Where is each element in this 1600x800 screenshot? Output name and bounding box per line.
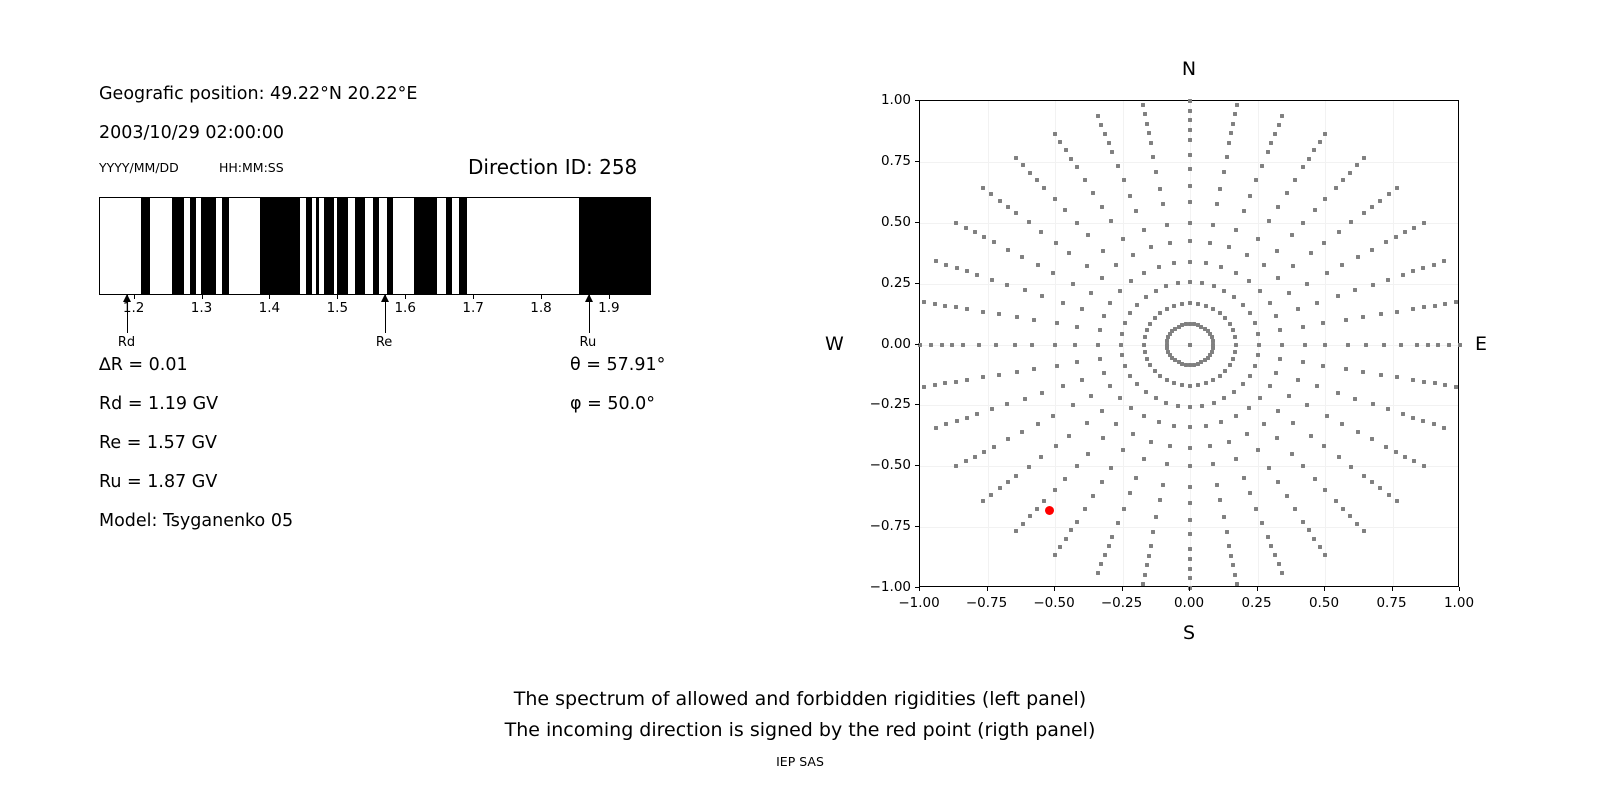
direction-dot (1153, 369, 1157, 373)
x-axis-tick-mark (1459, 587, 1460, 591)
direction-dot (1075, 360, 1079, 364)
direction-dot (1154, 289, 1158, 293)
direction-dot (1395, 375, 1399, 379)
direction-dot (1296, 307, 1300, 311)
direction-dot (1157, 420, 1161, 424)
direction-dot (1312, 537, 1316, 541)
direction-dot (1128, 491, 1132, 495)
direction-dot (1371, 283, 1375, 287)
direction-dot (1040, 294, 1044, 298)
direction-dot (994, 343, 998, 347)
x-axis-tick-label: −0.50 (1033, 595, 1074, 611)
direction-dot (1254, 507, 1258, 511)
direction-dot (1262, 422, 1266, 426)
direction-dot (1296, 378, 1300, 382)
direction-dot (1323, 197, 1327, 201)
direction-dot (1275, 436, 1279, 440)
direction-dot (1411, 378, 1415, 382)
direction-dot (1096, 343, 1100, 347)
direction-dot (1083, 178, 1087, 182)
direction-dot (1121, 237, 1125, 241)
direction-dot (1235, 103, 1239, 107)
direction-dot (1322, 241, 1326, 245)
direction-dot (1158, 311, 1162, 315)
direction-dot (950, 343, 954, 347)
direction-dot (1172, 261, 1176, 265)
direction-dot (992, 445, 996, 449)
direction-dot (1128, 194, 1132, 198)
direction-dot (1114, 422, 1118, 426)
direction-dot (1245, 253, 1249, 257)
direction-dot (1318, 140, 1322, 144)
direction-dot (1069, 528, 1073, 532)
direction-dot (1325, 271, 1329, 275)
y-axis-tick-label: 1.00 (857, 92, 911, 108)
compass-label-east: E (1475, 333, 1487, 355)
direction-dot (1086, 233, 1090, 237)
forbidden-band (190, 198, 196, 294)
direction-dot (1395, 186, 1399, 190)
forbidden-band (387, 198, 393, 294)
direction-dot (1361, 370, 1365, 374)
arrow-up-icon (123, 294, 131, 302)
forbidden-band (141, 198, 151, 294)
direction-dot (1028, 171, 1032, 175)
direction-dot (1015, 370, 1019, 374)
direction-dot (1036, 422, 1040, 426)
direction-dot (1305, 403, 1309, 407)
direction-dot (1277, 123, 1281, 127)
direction-dot (1121, 448, 1125, 452)
gridline-vertical (988, 101, 989, 586)
direction-dot (1315, 384, 1319, 388)
direction-dot (1096, 114, 1100, 118)
forbidden-band (306, 198, 312, 294)
direction-dot (1323, 553, 1327, 557)
direction-dot (1027, 220, 1031, 224)
direction-dot (1323, 132, 1327, 136)
direction-dot (1436, 343, 1440, 347)
direction-dot (1278, 328, 1282, 332)
direction-dot (1149, 141, 1153, 145)
direction-dot (1443, 383, 1447, 387)
direction-dot (1006, 205, 1010, 209)
direction-dot (1301, 165, 1305, 169)
direction-dot (1364, 343, 1368, 347)
direction-dot (1020, 430, 1024, 434)
x-axis-tick-mark (1324, 587, 1325, 591)
direction-dot (1247, 279, 1251, 283)
direction-dot (964, 226, 968, 230)
direction-dot (1107, 141, 1111, 145)
direction-dot (1401, 412, 1405, 416)
direction-dot (1291, 264, 1295, 268)
direction-dot (1307, 528, 1311, 532)
direction-dot (1382, 343, 1386, 347)
direction-dot (1301, 360, 1305, 364)
direction-dot (1135, 303, 1139, 307)
direction-dot (1321, 321, 1325, 325)
direction-dot (1069, 157, 1073, 161)
direction-dot (1301, 464, 1305, 468)
direction-dot (1384, 240, 1388, 244)
value-model: Model: Tsyganenko 05 (99, 511, 293, 531)
direction-dot (943, 381, 947, 385)
direction-dot (1154, 170, 1158, 174)
y-axis-tick-mark (915, 465, 919, 466)
direction-dot (1229, 131, 1233, 135)
x-axis-tick-mark (1122, 587, 1123, 591)
rigidity-spectrum-chart (99, 197, 651, 295)
direction-dot (1129, 406, 1133, 410)
direction-dot (1039, 455, 1043, 459)
direction-dot (1023, 397, 1027, 401)
direction-dot (1120, 332, 1124, 336)
direction-dot (1248, 491, 1252, 495)
direction-dot (1099, 562, 1103, 566)
direction-dot (1315, 301, 1319, 305)
direction-dot (1020, 255, 1024, 259)
direction-dot (1386, 278, 1390, 282)
direction-dot (1222, 396, 1226, 400)
direction-dot (1103, 132, 1107, 136)
direction-dot (1253, 321, 1257, 325)
direction-dot (989, 192, 993, 196)
spectrum-axis-tick-label: 1.4 (259, 300, 280, 316)
direction-dot (1165, 307, 1169, 311)
direction-dot (1157, 265, 1161, 269)
spectrum-axis-tick (134, 295, 135, 299)
direction-dot (1348, 171, 1352, 175)
direction-dot (1188, 547, 1192, 551)
spectrum-axis-tick-label: 1.5 (327, 300, 348, 316)
forbidden-band (414, 198, 438, 294)
direction-dot (1075, 221, 1079, 225)
direction-dot (1212, 284, 1216, 288)
direction-dot (1218, 374, 1222, 378)
direction-dot (1232, 390, 1236, 394)
direction-dot (1447, 343, 1451, 347)
direction-dot (1188, 557, 1192, 561)
direction-dot (1204, 261, 1208, 265)
direction-dot (1134, 209, 1138, 213)
selected-direction-point[interactable] (1045, 506, 1054, 515)
y-axis-tick-label: −0.50 (857, 457, 911, 473)
direction-dot (1412, 459, 1416, 463)
direction-dot (1100, 409, 1104, 413)
direction-dot (1245, 432, 1249, 436)
direction-dot (1387, 493, 1391, 497)
direction-dot (1013, 343, 1017, 347)
direction-dot (1006, 480, 1010, 484)
direction-dot (1054, 444, 1058, 448)
direction-dot (1166, 335, 1170, 339)
direction-dot (965, 416, 969, 420)
direction-dot (1454, 300, 1458, 304)
direction-dot (1378, 199, 1382, 203)
direction-dot (1242, 209, 1246, 213)
direction-dot (1145, 122, 1149, 126)
direction-dot (1142, 228, 1146, 232)
direction-dot (1266, 535, 1270, 539)
forbidden-band (324, 198, 334, 294)
direction-dot (1433, 304, 1437, 308)
direction-dot (1188, 118, 1192, 122)
direction-dot (1303, 343, 1307, 347)
x-axis-tick-label: −0.25 (1101, 595, 1142, 611)
direction-dot (1165, 462, 1169, 466)
direction-dot (1231, 328, 1235, 332)
y-axis-tick-mark (915, 404, 919, 405)
direction-dot (1151, 530, 1155, 534)
direction-dot (1254, 178, 1258, 182)
direction-dot (1422, 221, 1426, 225)
direction-dot (1235, 582, 1239, 586)
direction-dot (1231, 563, 1235, 567)
direction-dot (1422, 305, 1426, 309)
direction-dot (1257, 343, 1261, 347)
direction-dot (1080, 378, 1084, 382)
direction-dot (1170, 356, 1174, 360)
direction-dot (1109, 219, 1113, 223)
direction-dot (1267, 466, 1271, 470)
direction-dot (1177, 325, 1181, 329)
direction-dot (1166, 350, 1170, 354)
direction-dot (922, 385, 926, 389)
forbidden-band (373, 198, 379, 294)
direction-dot (1248, 311, 1252, 315)
direction-dot (1023, 288, 1027, 292)
direction-dot (1165, 343, 1169, 347)
direction-dot (1267, 219, 1271, 223)
direction-dot (1061, 384, 1065, 388)
direction-dot (1180, 302, 1184, 306)
direction-dot (1196, 302, 1200, 306)
direction-dot (1021, 163, 1025, 167)
direction-dot (1395, 310, 1399, 314)
marker-label: Ru (580, 335, 597, 350)
value-theta: θ = 57.91° (570, 355, 665, 375)
direction-dot (1344, 318, 1348, 322)
direction-dot (1273, 132, 1277, 136)
direction-dot (1321, 364, 1325, 368)
direction-dot (1256, 448, 1260, 452)
direction-dot (1055, 364, 1059, 368)
direction-dot (1149, 245, 1153, 249)
direction-dot (1151, 155, 1155, 159)
direction-dot (1349, 220, 1353, 224)
right-panel: N S W E −1.00−0.75−0.50−0.250.000.250.50… (800, 0, 1600, 660)
direction-dot (1145, 328, 1149, 332)
direction-dot (1223, 369, 1227, 373)
direction-dot (933, 302, 937, 306)
forbidden-band (316, 198, 319, 294)
direction-dot (1188, 301, 1192, 305)
spectrum-axis-tick (202, 295, 203, 299)
direction-dot (1036, 263, 1040, 267)
direction-dot (1206, 356, 1210, 360)
direction-dot (940, 343, 944, 347)
direction-dot (1188, 518, 1192, 522)
compass-label-north: N (800, 58, 1578, 80)
direction-dot (1188, 343, 1192, 347)
direction-dot (922, 300, 926, 304)
direction-dot (1305, 282, 1309, 286)
direction-dot (1337, 455, 1341, 459)
direction-dot (1188, 184, 1192, 188)
forbidden-band (222, 198, 229, 294)
direction-dot (1075, 520, 1079, 524)
direction-dot (1164, 284, 1168, 288)
direction-dot (1014, 474, 1018, 478)
direction-dot (1422, 464, 1426, 468)
x-axis-tick-mark (1054, 587, 1055, 591)
direction-dot (1063, 477, 1067, 481)
direction-dot (944, 263, 948, 267)
direction-dot (1118, 396, 1122, 400)
direction-dot (1142, 457, 1146, 461)
direction-dot (1370, 480, 1374, 484)
direction-dot (1147, 131, 1151, 135)
direction-dot (1035, 178, 1039, 182)
direction-dot (1313, 477, 1317, 481)
direction-dot (1233, 335, 1237, 339)
rigidity-spectrum-bar (99, 197, 651, 295)
direction-dot (1277, 562, 1281, 566)
direction-dot (1355, 163, 1359, 167)
direction-dot (1164, 401, 1168, 405)
direction-dot (1340, 263, 1344, 267)
direction-dot (1336, 294, 1340, 298)
direction-dot (1058, 140, 1062, 144)
direction-dot (1039, 230, 1043, 234)
y-axis-tick-mark (915, 222, 919, 223)
direction-dot (1241, 303, 1245, 307)
forbidden-band (337, 198, 348, 294)
direction-dot (1067, 251, 1071, 255)
arrow-up-icon (585, 294, 593, 302)
forbidden-band (201, 198, 216, 294)
x-axis-tick-label: 0.50 (1309, 595, 1339, 611)
direction-dot (1395, 499, 1399, 503)
direction-dot (1291, 421, 1295, 425)
datetime-label: 2003/10/29 02:00:00 (99, 123, 284, 143)
compass-label-west: W (825, 333, 844, 355)
direction-dot (1269, 544, 1273, 548)
direction-dot (1168, 241, 1172, 245)
direction-dot (1256, 332, 1260, 336)
forbidden-band (446, 198, 452, 294)
direction-dot (1323, 488, 1327, 492)
direction-dot (1053, 343, 1057, 347)
direction-dot (1054, 241, 1058, 245)
direction-dot (1341, 178, 1345, 182)
direction-dot (1458, 343, 1462, 347)
x-axis-tick-label: −0.75 (966, 595, 1007, 611)
forbidden-band (355, 198, 365, 294)
direction-dot (1269, 141, 1273, 145)
direction-dot (1260, 521, 1264, 525)
spectrum-axis-tick-label: 1.3 (191, 300, 212, 316)
direction-dot (1110, 150, 1114, 154)
direction-dot (1188, 200, 1192, 204)
direction-dot (1210, 350, 1214, 354)
direction-dot (1158, 374, 1162, 378)
direction-dot (1258, 289, 1262, 293)
direction-dot (1128, 311, 1132, 315)
direction-dot (954, 305, 958, 309)
direction-dot (1135, 382, 1139, 386)
spectrum-axis-tick-label: 1.9 (598, 300, 619, 316)
direction-dot (1086, 452, 1090, 456)
direction-dot (1229, 554, 1233, 558)
direction-dot (981, 310, 985, 314)
direction-dot (1228, 322, 1232, 326)
direction-dot (1287, 291, 1291, 295)
direction-dot (1147, 554, 1151, 558)
direction-dot (1098, 328, 1102, 332)
direction-dot (1421, 266, 1425, 270)
direction-dot (1280, 343, 1284, 347)
y-axis-tick-mark (915, 161, 919, 162)
direction-dot (1123, 364, 1127, 368)
direction-dot (1141, 582, 1145, 586)
direction-dot (1188, 425, 1192, 429)
direction-dot (1266, 150, 1270, 154)
direction-dot (998, 199, 1002, 203)
direction-dot (1403, 455, 1407, 459)
direction-dot (1208, 241, 1212, 245)
direction-dot (1219, 420, 1223, 424)
direction-dot (1188, 567, 1192, 571)
y-axis-tick-mark (915, 283, 919, 284)
direction-dot (998, 486, 1002, 490)
direction-dot (1227, 544, 1231, 548)
spectrum-axis-tick-label: 1.6 (394, 300, 415, 316)
direction-dot (1290, 233, 1294, 237)
direction-dot (1287, 394, 1291, 398)
spectrum-axis-tick-label: 1.8 (530, 300, 551, 316)
direction-dot (982, 235, 986, 239)
caption-line-2: The incoming direction is signed by the … (0, 715, 1600, 746)
direction-dot (1148, 363, 1152, 367)
direction-dot (1379, 373, 1383, 377)
direction-dot (1362, 474, 1366, 478)
spectrum-axis-tick (609, 295, 610, 299)
direction-dot (1075, 325, 1079, 329)
direction-dot (1064, 537, 1068, 541)
direction-dot (1415, 343, 1419, 347)
x-axis-tick-label: −1.00 (898, 595, 939, 611)
direction-dot (1234, 414, 1238, 418)
direction-dot (1260, 164, 1264, 168)
direction-dot (1021, 522, 1025, 526)
y-axis-tick-label: −0.75 (857, 518, 911, 534)
direction-dot (1116, 164, 1120, 168)
spectrum-axis-tick (269, 295, 270, 299)
direction-dot (1114, 263, 1118, 267)
direction-dot (1233, 573, 1237, 577)
direction-dot (1061, 301, 1065, 305)
direction-dot (1108, 384, 1112, 388)
figure-caption: The spectrum of allowed and forbidden ri… (0, 684, 1600, 746)
direction-dot (1394, 450, 1398, 454)
direction-dot (1131, 432, 1135, 436)
direction-dot (1313, 208, 1317, 212)
direction-dot (1144, 390, 1148, 394)
direction-dot (1275, 249, 1279, 253)
direction-dot (1280, 571, 1284, 575)
